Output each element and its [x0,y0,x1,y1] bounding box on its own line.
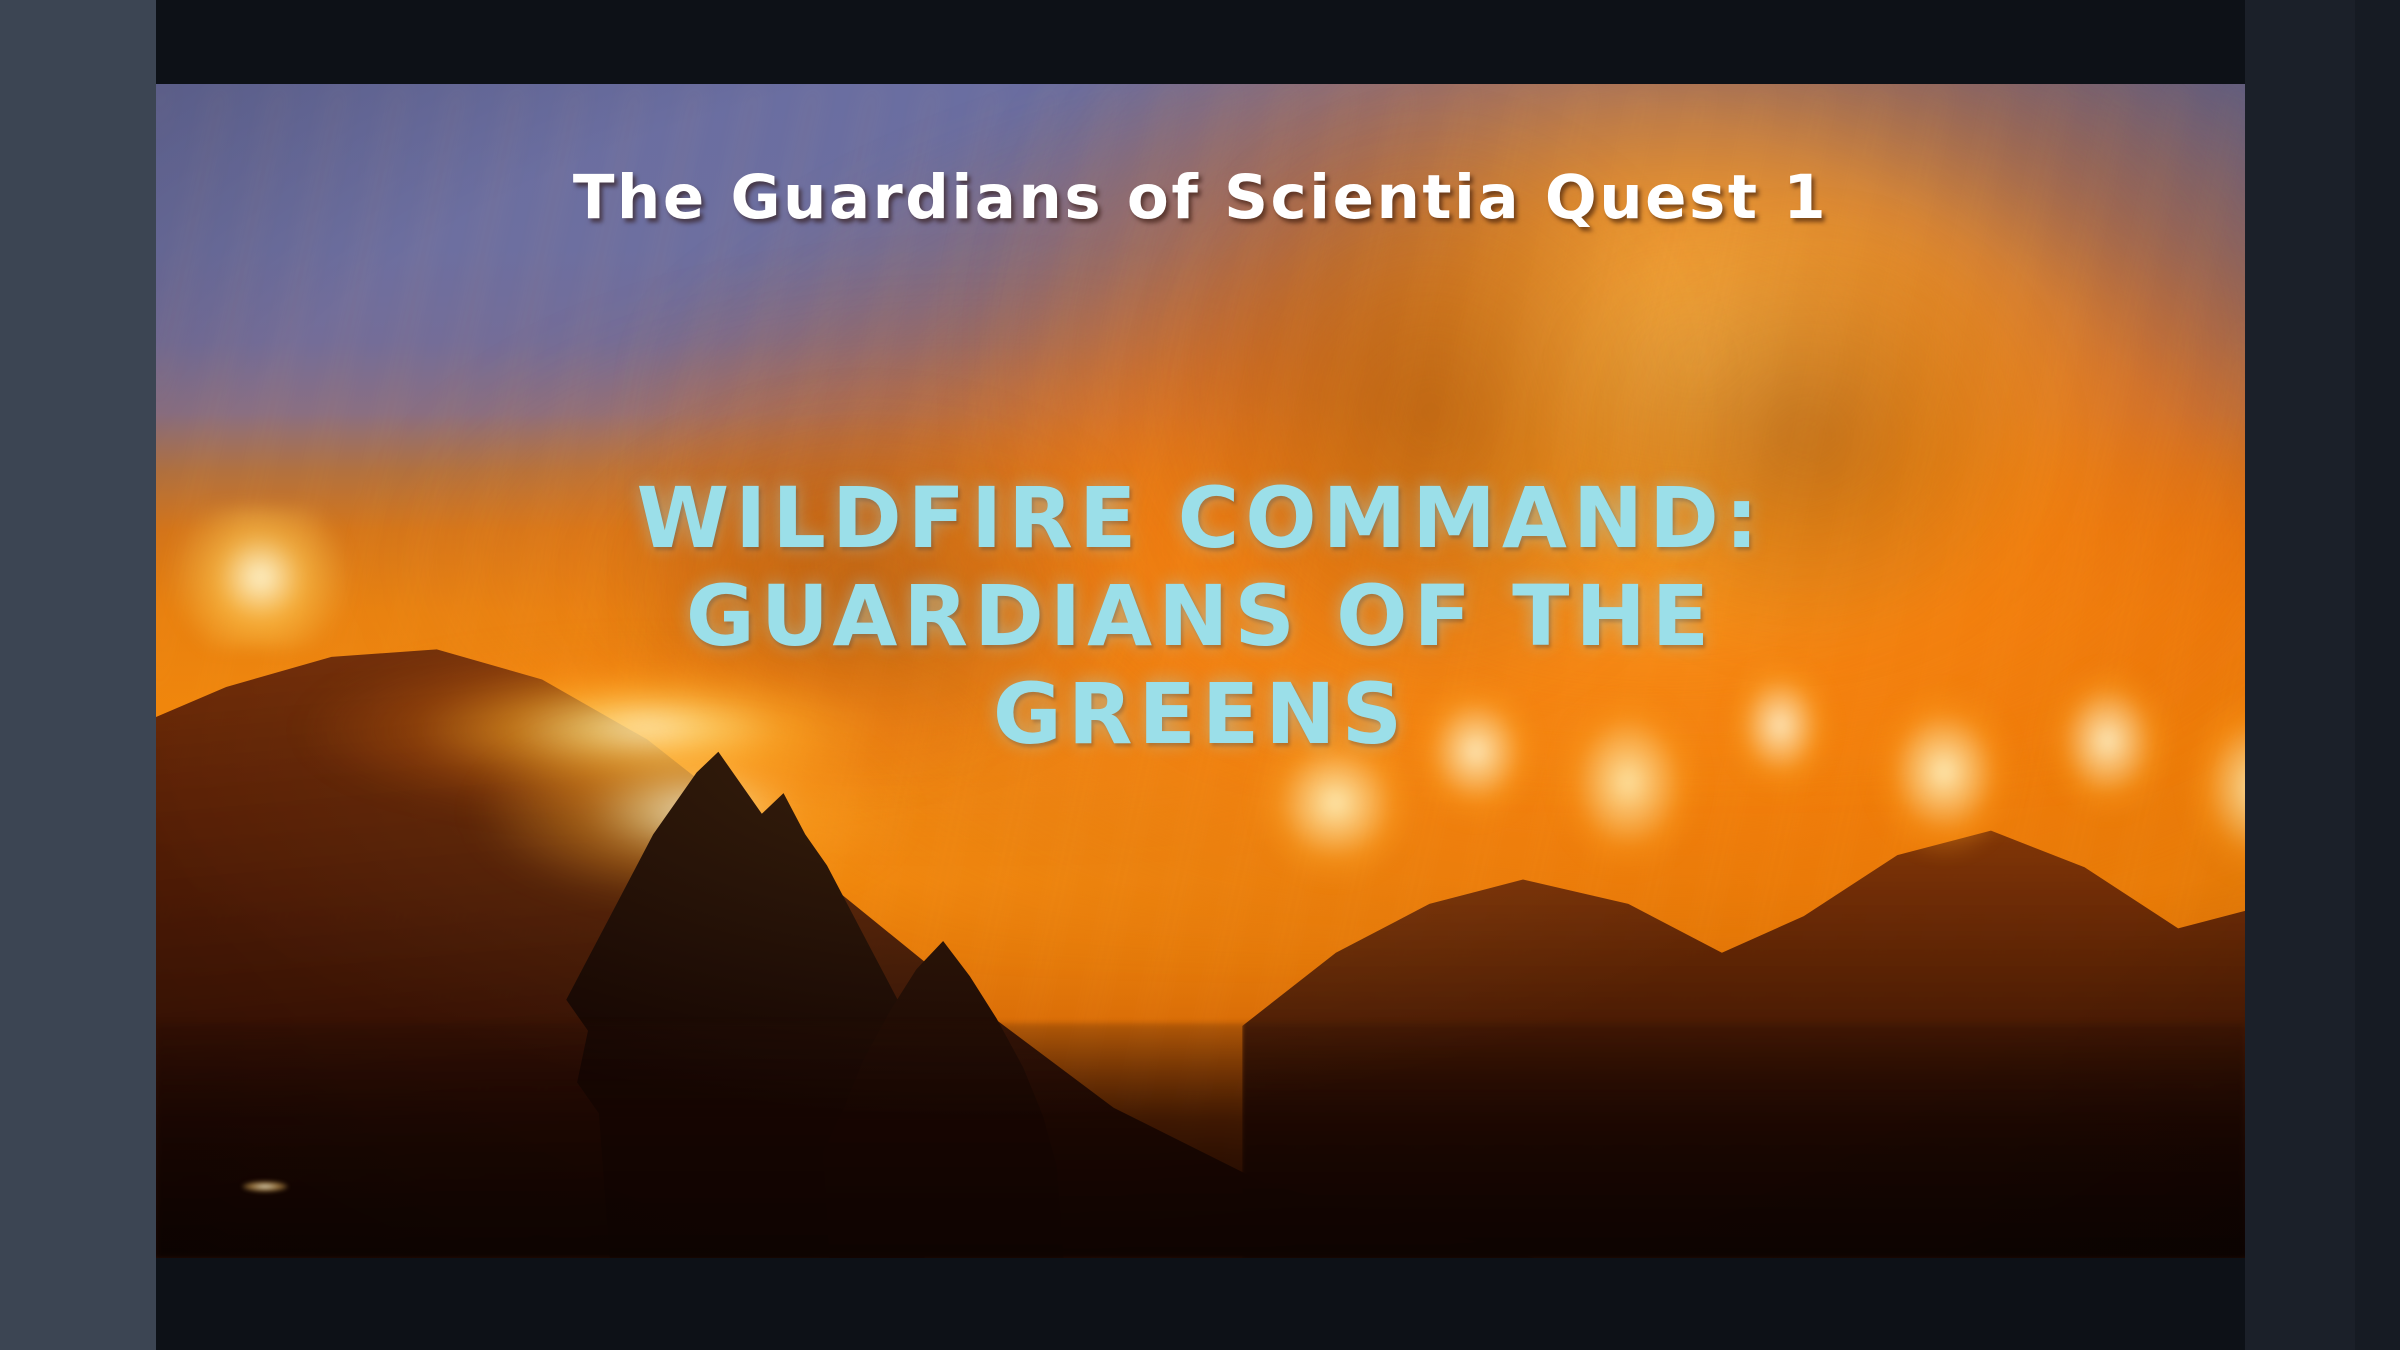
slide-headline: WILDFIRE COMMAND: GUARDIANS OF THE GREEN… [281,469,2119,763]
headline-line-1: WILDFIRE COMMAND: [281,469,2119,567]
app-window: The Guardians of Scientia Quest 1 WILDFI… [0,0,2400,1350]
right-panel-edge [2355,0,2400,1350]
video-stage[interactable]: The Guardians of Scientia Quest 1 WILDFI… [156,0,2245,1350]
headline-line-3: GREENS [281,665,2119,763]
dark-foreground [156,1023,2245,1258]
headline-line-2: GUARDIANS OF THE [281,567,2119,665]
slide-background-image: The Guardians of Scientia Quest 1 WILDFI… [156,84,2245,1258]
slide-course-title: The Guardians of Scientia Quest 1 [156,162,2245,233]
